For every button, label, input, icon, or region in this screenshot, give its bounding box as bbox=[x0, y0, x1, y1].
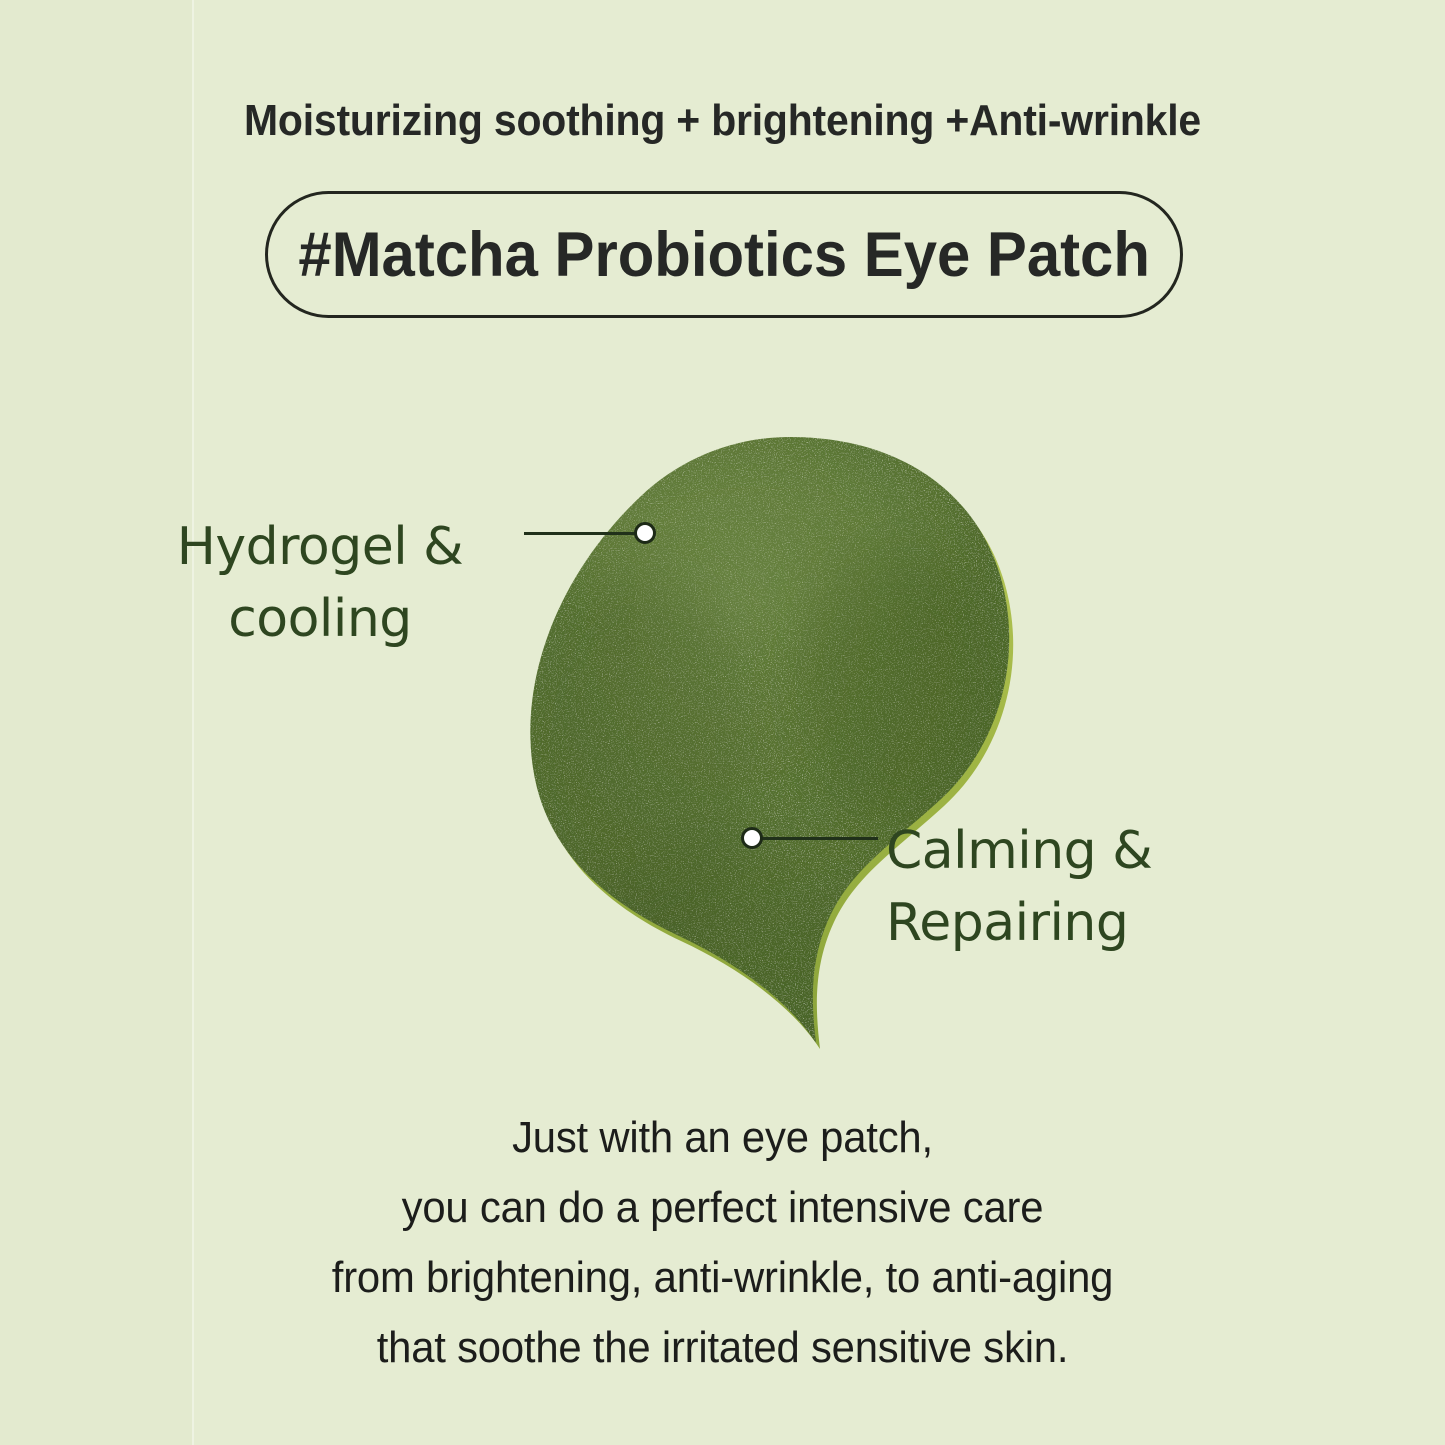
body-copy: Just with an eye patch, you can do a per… bbox=[0, 1103, 1445, 1383]
title-badge-label: #Matcha Probiotics Eye Patch bbox=[298, 219, 1149, 291]
callout-label-hydrogel-cooling: Hydrogel & cooling bbox=[120, 512, 520, 656]
leader-dot-hydrogel bbox=[634, 522, 656, 544]
body-copy-line: Just with an eye patch, bbox=[36, 1103, 1409, 1173]
body-copy-line: you can do a perfect intensive care bbox=[36, 1173, 1409, 1243]
body-copy-line: from brightening, anti-wrinkle, to anti-… bbox=[36, 1243, 1409, 1313]
tagline: Moisturizing soothing + brightening +Ant… bbox=[51, 96, 1395, 146]
leader-line-hydrogel bbox=[524, 532, 646, 535]
body-copy-line: that soothe the irritated sensitive skin… bbox=[36, 1313, 1409, 1383]
leader-dot-calming bbox=[741, 827, 763, 849]
product-marketing-image: Moisturizing soothing + brightening +Ant… bbox=[0, 0, 1445, 1445]
leader-line-calming bbox=[752, 837, 878, 840]
callout-label-calming-repairing: Calming & Repairing bbox=[886, 816, 1306, 960]
title-badge: #Matcha Probiotics Eye Patch bbox=[265, 191, 1183, 318]
